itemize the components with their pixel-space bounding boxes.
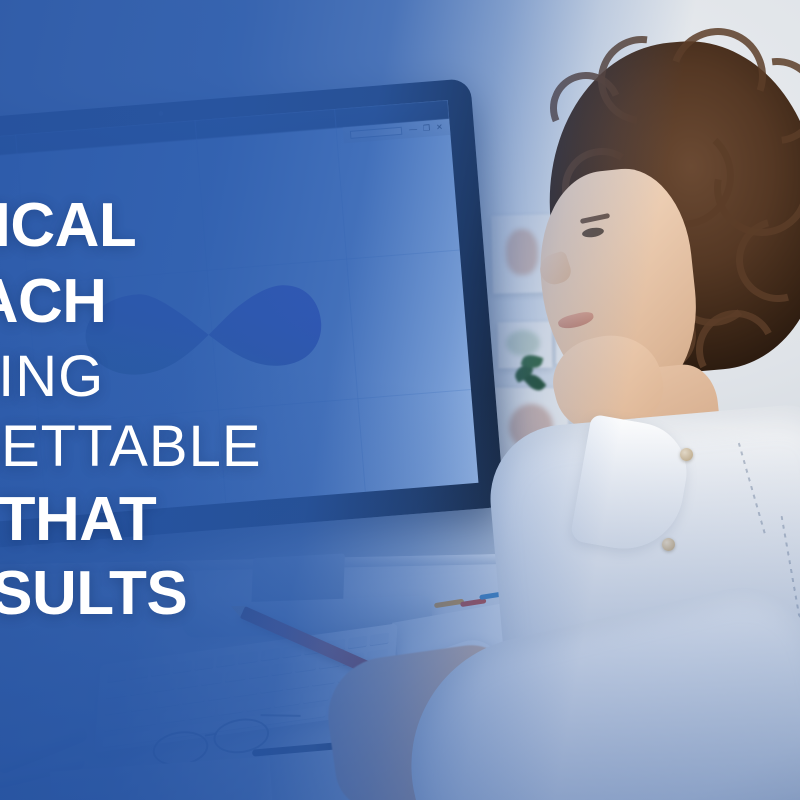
banner-scene: File Edit Window View — ❐ ✕ xyxy=(0,0,800,800)
headline-line-5: S THAT xyxy=(0,490,640,550)
headline-line-6: RESULTS xyxy=(0,564,640,624)
headline-line-3: LDING xyxy=(0,349,640,405)
headline-line-4: RGETTABLE xyxy=(0,419,640,475)
headline-line-2: OACH xyxy=(0,272,640,332)
headline-line-1: CTICAL xyxy=(0,196,640,256)
headline-block: CTICAL OACH LDING RGETTABLE S THAT RESUL… xyxy=(0,196,640,623)
